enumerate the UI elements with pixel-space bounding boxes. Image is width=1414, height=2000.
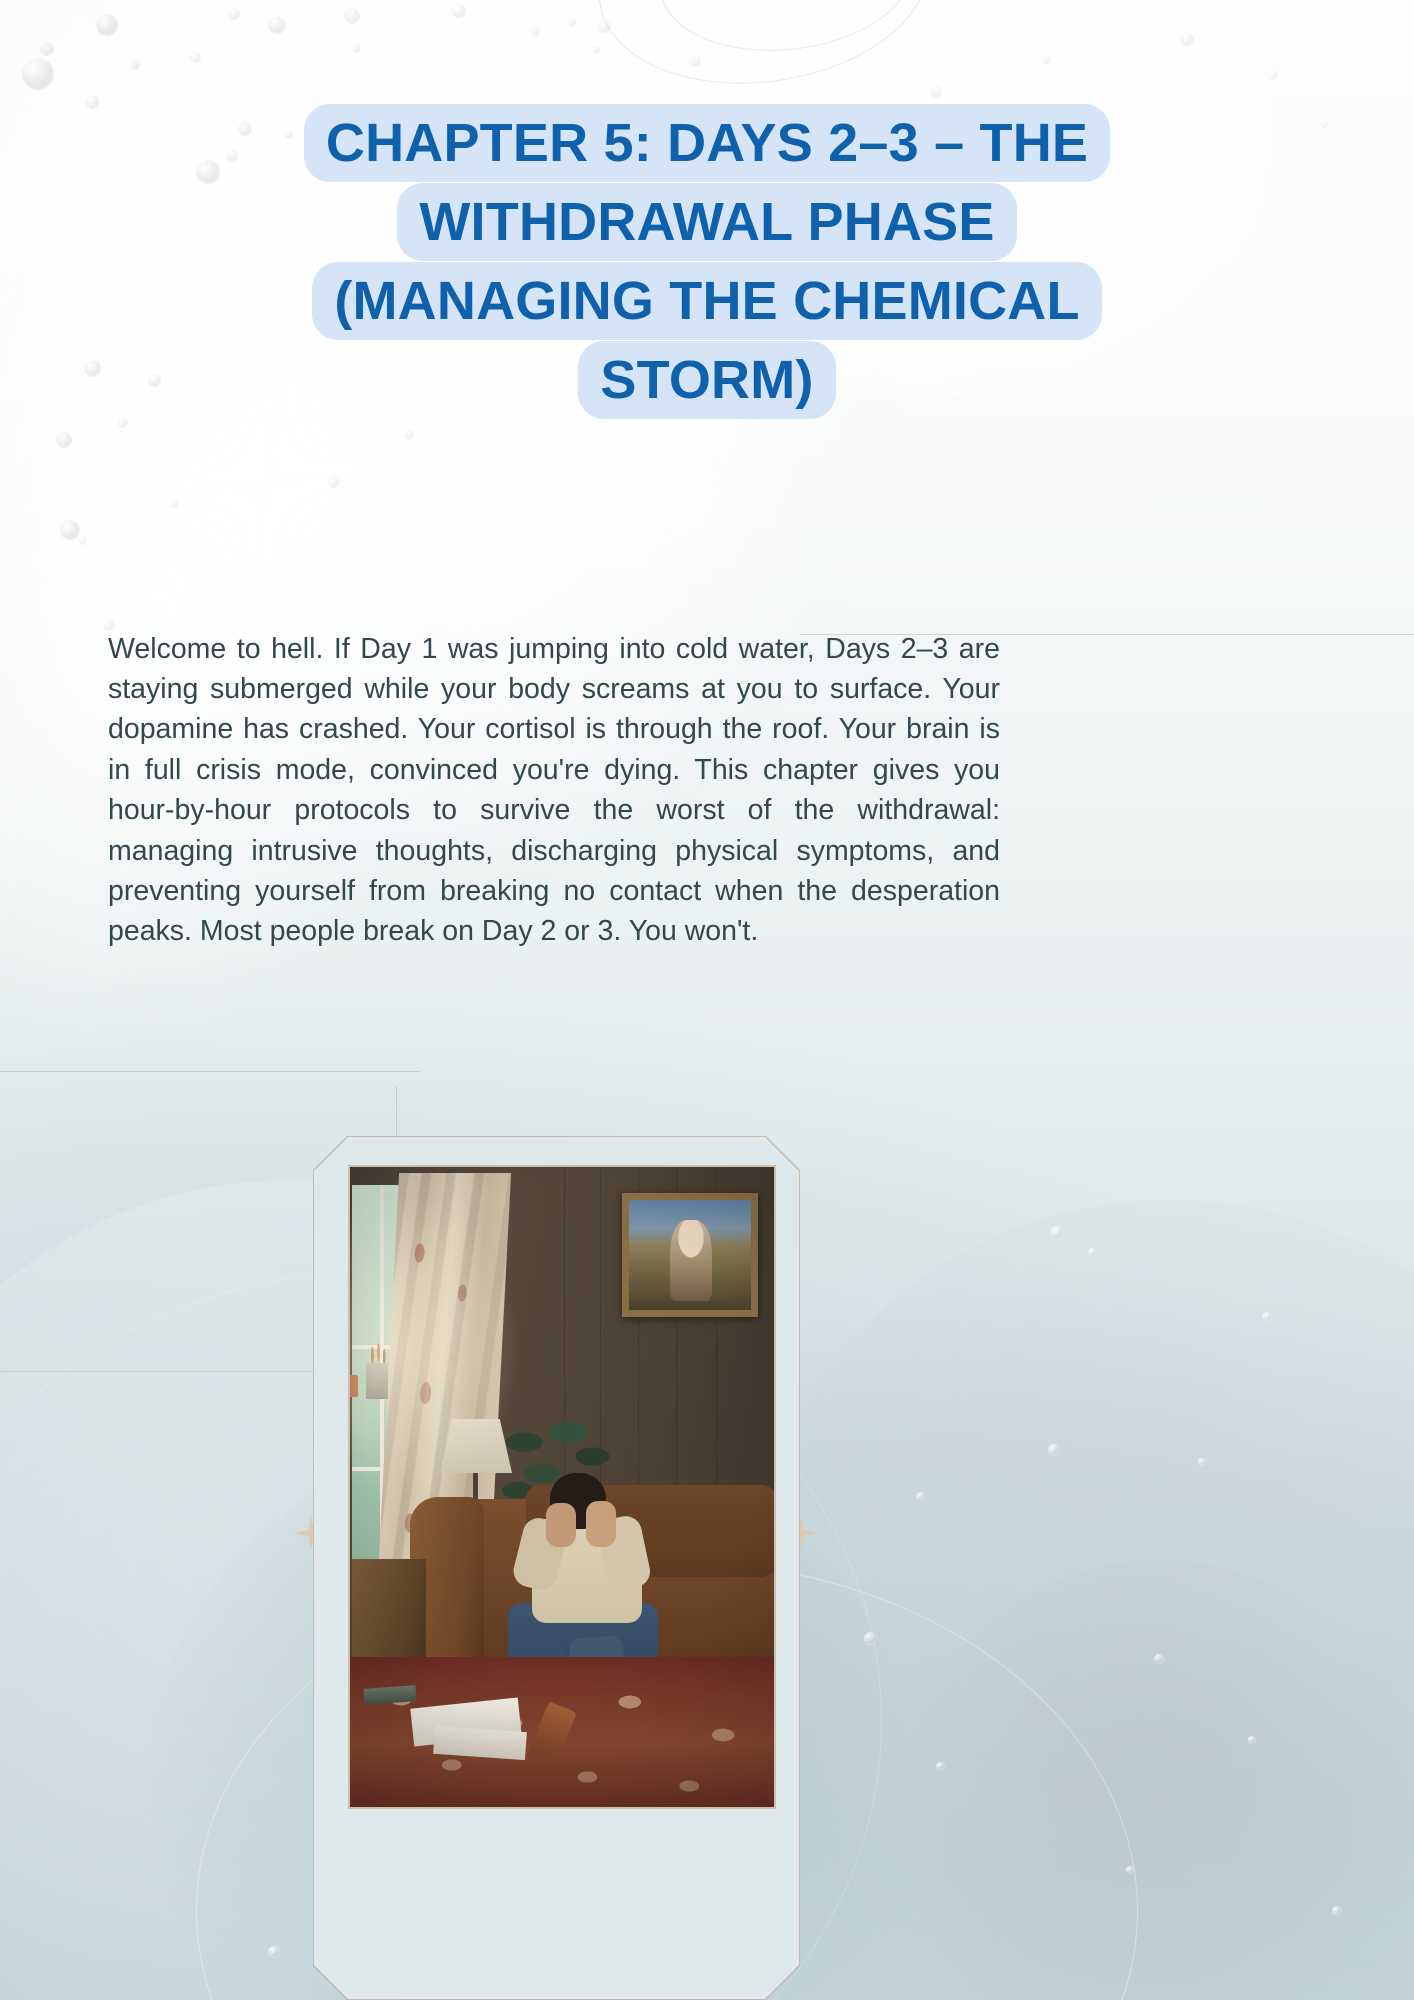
background-bubble [268,16,286,34]
background-bubble [568,18,577,27]
background-bubble [1050,1226,1064,1240]
background-bubble [1248,1736,1256,1744]
background-bubble [228,8,240,20]
illustration-photo [348,1165,776,1809]
background-bubble [1198,1458,1206,1466]
background-bubble [916,1492,925,1501]
background-bubble [404,430,414,440]
background-bubble [40,42,54,56]
background-bubble [1126,1866,1134,1874]
page-title: CHAPTER 5: DAYS 2–3 – THE WITHDRAWAL PHA… [0,104,1414,420]
title-line-row-4: STORM) [0,341,1414,419]
title-line-1: CHAPTER 5: DAYS 2–3 – THE [304,104,1110,182]
background-bubble [96,14,118,36]
photo-candle [348,1375,358,1397]
background-bubble [598,20,611,33]
photo-wall-art [622,1193,758,1317]
illustration-frame [313,1136,800,2000]
background-bubble [328,476,340,488]
guide-rule-mid-left [0,1071,420,1072]
background-bubble [1088,1248,1097,1257]
background-bubble [452,4,466,18]
background-bubble [864,1632,877,1645]
background-bubble [1180,32,1194,46]
background-bubble [78,536,87,545]
background-bubble [1332,1906,1342,1916]
title-line-2: WITHDRAWAL PHASE [397,183,1016,261]
background-bubble [190,52,201,63]
background-bubble [936,1762,945,1771]
background-bubble [60,520,80,540]
background-bubble [22,58,54,90]
photo-person-hand-right [586,1501,616,1547]
background-bubble [130,60,140,70]
background-bubble [1048,1444,1060,1456]
title-line-row-1: CHAPTER 5: DAYS 2–3 – THE [0,104,1414,182]
body-paragraph: Welcome to hell. If Day 1 was jumping in… [108,629,1000,952]
background-bubble [170,500,178,508]
photo-vase [366,1363,388,1399]
page-canvas: CHAPTER 5: DAYS 2–3 – THE WITHDRAWAL PHA… [0,0,1414,2000]
title-line-row-3: (MANAGING THE CHEMICAL [0,262,1414,340]
background-bubble [1042,56,1051,65]
background-bubble [1262,1312,1272,1322]
photo-lamp-shade [440,1419,512,1473]
background-bubble [344,8,360,24]
background-bubble [1268,70,1278,80]
title-line-row-2: WITHDRAWAL PHASE [0,183,1414,261]
background-bubble [268,1946,280,1958]
background-bubble [56,432,72,448]
background-bubble [930,86,942,98]
title-line-3: (MANAGING THE CHEMICAL [312,262,1101,340]
photo-person-hand-left [546,1503,576,1547]
background-bubble [352,44,361,53]
background-bubble [690,56,701,67]
background-bubble [592,46,600,54]
title-line-4: STORM) [578,341,835,419]
background-bubble [1154,1654,1164,1664]
background-bubble [530,26,540,36]
